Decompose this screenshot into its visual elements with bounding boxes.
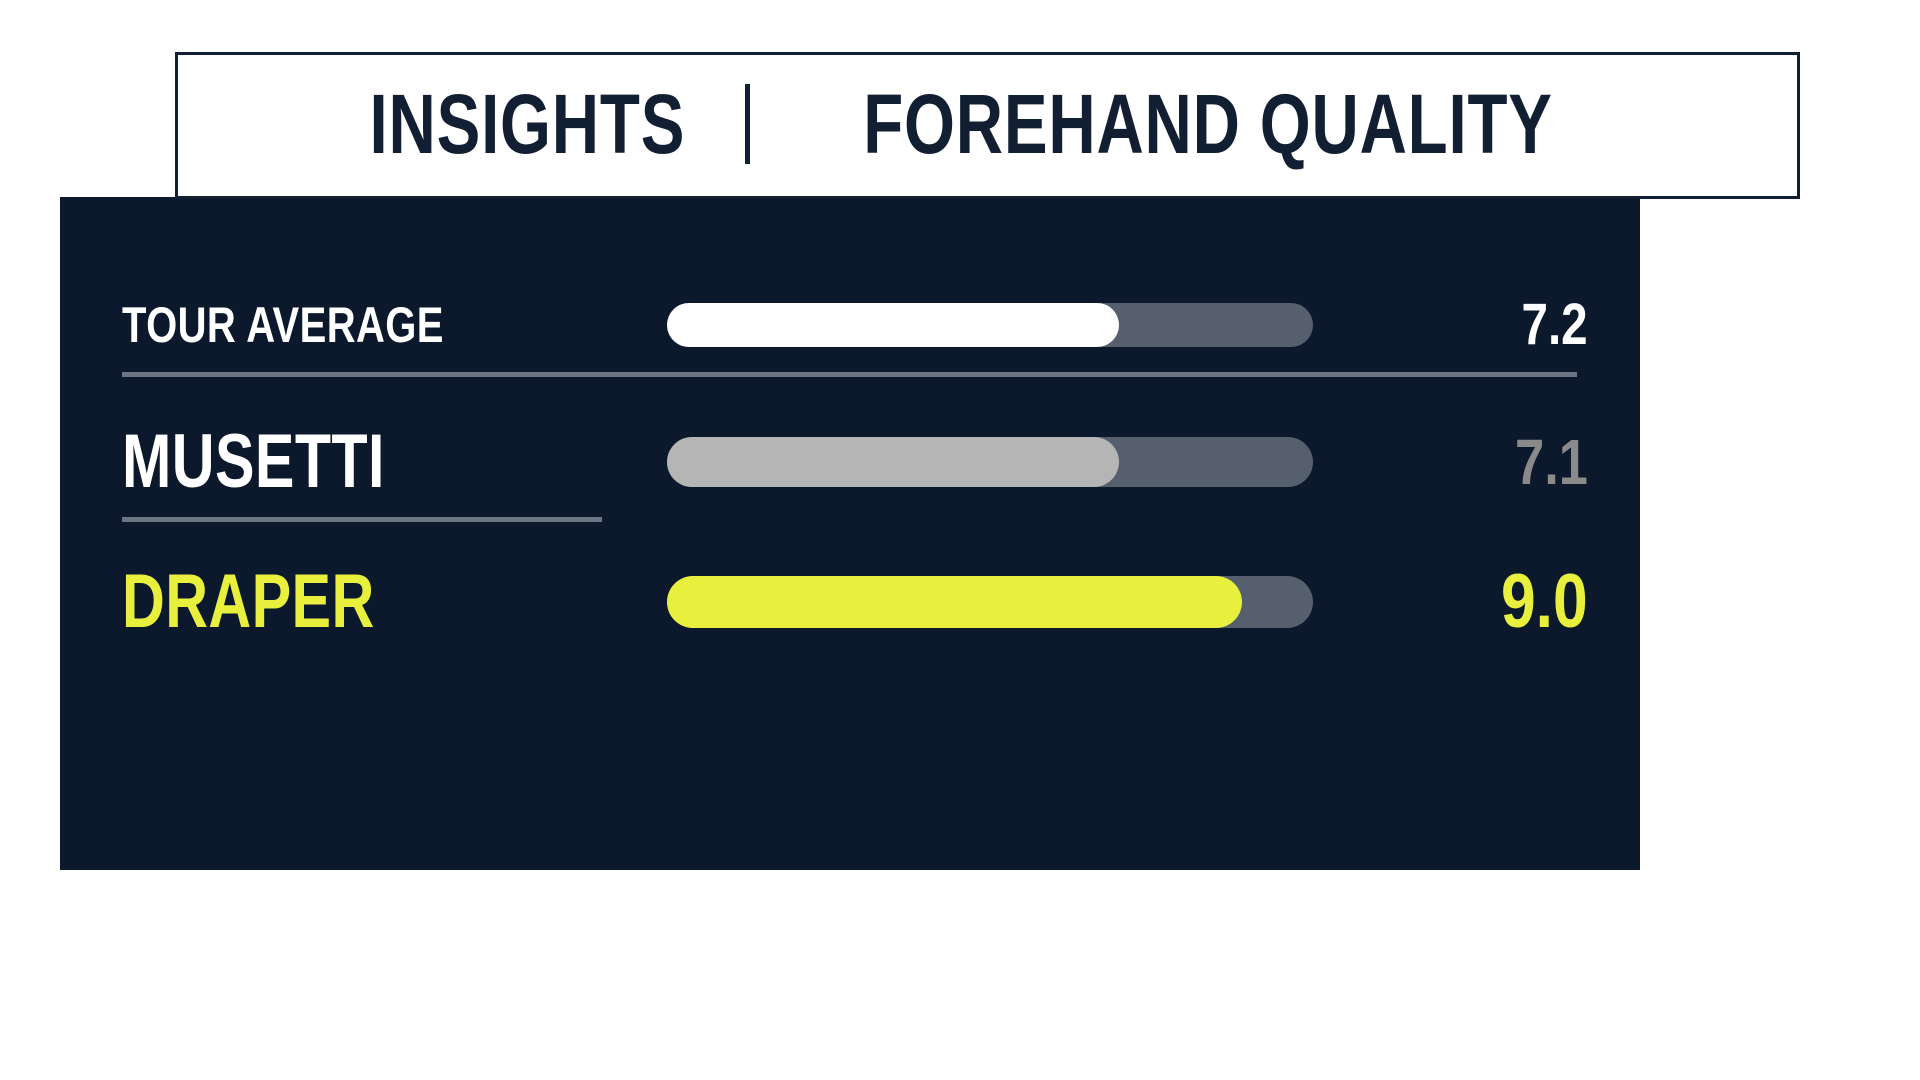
stat-row-label: TOUR AVERAGE bbox=[122, 300, 444, 350]
title-row: INSIGHTS FOREHAND QUALITY bbox=[325, 82, 1651, 166]
stat-row-draper[interactable]: DRAPER 9.0 bbox=[60, 542, 1640, 662]
stat-bar[interactable] bbox=[667, 437, 1313, 487]
stats-rows: TOUR AVERAGE 7.2 MUSETTI 7.1 DRAPER bbox=[60, 197, 1640, 870]
stat-row-tour-average[interactable]: TOUR AVERAGE 7.2 bbox=[60, 265, 1640, 385]
stat-bar[interactable] bbox=[667, 576, 1313, 628]
stat-bar-fill bbox=[667, 303, 1119, 347]
stat-row-label: DRAPER bbox=[122, 564, 375, 640]
stat-bar[interactable] bbox=[667, 303, 1313, 347]
stats-panel: TOUR AVERAGE 7.2 MUSETTI 7.1 DRAPER bbox=[60, 197, 1640, 870]
title-word-metric: FOREHAND QUALITY bbox=[864, 82, 1554, 166]
insight-graphic-stage: TOUR AVERAGE 7.2 MUSETTI 7.1 DRAPER bbox=[0, 0, 1920, 1080]
stat-bar-fill bbox=[667, 576, 1242, 628]
stat-row-score: 7.1 bbox=[1515, 430, 1588, 494]
stat-bar-fill bbox=[667, 437, 1119, 487]
title-separator-bar bbox=[745, 84, 750, 164]
stat-row-label: MUSETTI bbox=[122, 424, 385, 500]
stat-row-score: 9.0 bbox=[1501, 564, 1588, 640]
stat-row-score: 7.2 bbox=[1522, 296, 1588, 354]
title-word-insights: INSIGHTS bbox=[369, 82, 685, 166]
stat-row-musetti[interactable]: MUSETTI 7.1 bbox=[60, 402, 1640, 522]
title-card: INSIGHTS FOREHAND QUALITY bbox=[175, 52, 1800, 199]
